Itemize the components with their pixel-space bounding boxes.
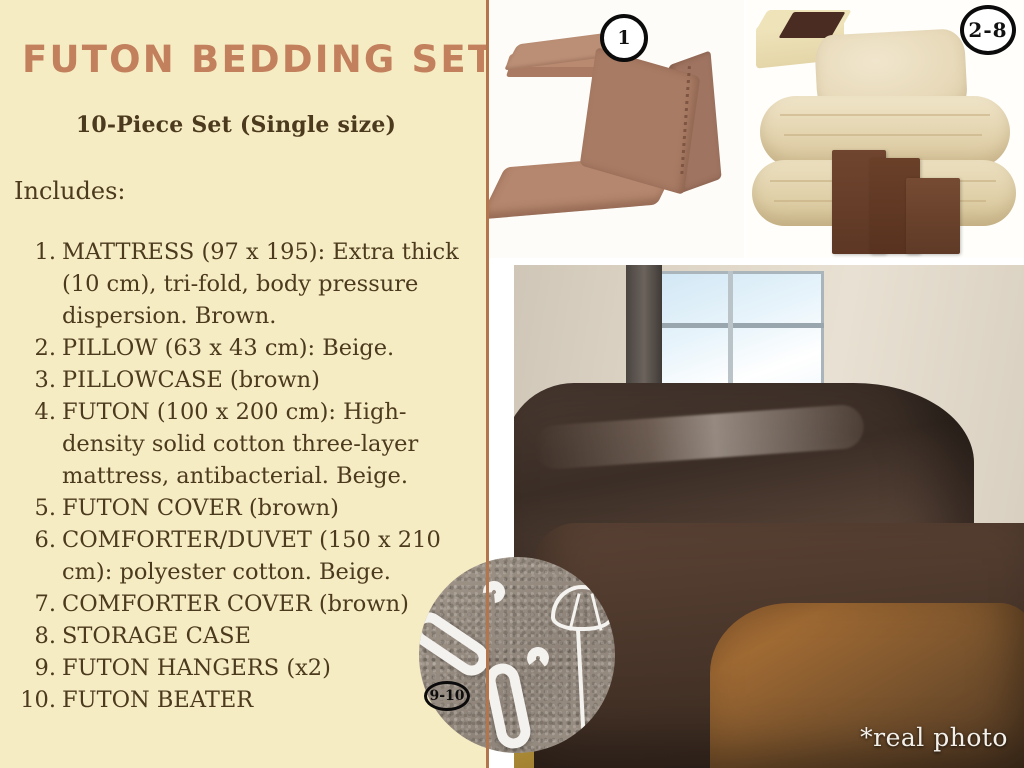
list-item-number: 8. — [14, 620, 56, 652]
futon-hanger-hook-2 — [526, 646, 550, 670]
futon-hanger-icon-2 — [482, 660, 533, 751]
futon-hanger-icon-1 — [419, 606, 495, 682]
list-item-number: 3. — [14, 364, 56, 396]
real-photo-caption: *real photo — [860, 723, 1008, 752]
photo-window — [642, 271, 824, 399]
futon-beater-icon — [551, 585, 615, 745]
includes-label: Includes: — [14, 177, 125, 205]
list-item-label: MATTRESS (97 x 195): Extra thick (10 cm)… — [62, 239, 459, 329]
list-item-number: 9. — [14, 652, 56, 684]
list-item-label: FUTON HANGERS (x2) — [62, 655, 331, 681]
list-item: 10. FUTON BEATER — [14, 684, 474, 716]
list-item-label: STORAGE CASE — [62, 623, 251, 649]
vertical-divider — [486, 0, 489, 768]
list-item-number: 7. — [14, 588, 56, 620]
list-item-number: 4. — [14, 396, 56, 428]
list-item-label: FUTON BEATER — [62, 687, 253, 713]
badge-product-1: 1 — [600, 14, 648, 62]
page-subtitle: 10-Piece Set (Single size) — [0, 112, 472, 138]
list-item-number: 2. — [14, 332, 56, 364]
list-item-label: COMFORTER/DUVET (150 x 210 cm): polyeste… — [62, 527, 441, 585]
brown-cover-fold-3 — [906, 178, 960, 254]
list-item-number: 1. — [14, 236, 56, 268]
list-item: 8. STORAGE CASE — [14, 620, 474, 652]
list-item: 6. COMFORTER/DUVET (150 x 210 cm): polye… — [14, 524, 474, 588]
list-item: 9. FUTON HANGERS (x2) — [14, 652, 474, 684]
futon-hanger-hook-1 — [479, 577, 510, 608]
included-items-list: 1. MATTRESS (97 x 195): Extra thick (10 … — [14, 236, 474, 716]
badge-product-2-8: 2-8 — [960, 5, 1016, 55]
list-item-number: 10. — [14, 684, 56, 716]
list-item: 3. PILLOWCASE (brown) — [14, 364, 474, 396]
accessories-circle-inset — [419, 557, 615, 753]
list-item: 4. FUTON (100 x 200 cm): High-density so… — [14, 396, 474, 492]
list-item-number: 6. — [14, 524, 56, 556]
list-item: 5. FUTON COVER (brown) — [14, 492, 474, 524]
page-title: FUTON BEDDING SET — [22, 38, 472, 81]
poster-root: FUTON BEDDING SET 10-Piece Set (Single s… — [0, 0, 1024, 768]
list-item-label: COMFORTER COVER (brown) — [62, 591, 409, 617]
list-item-label: FUTON (100 x 200 cm): High-density solid… — [62, 399, 418, 489]
list-item-number: 5. — [14, 492, 56, 524]
list-item: 7. COMFORTER COVER (brown) — [14, 588, 474, 620]
list-item-label: FUTON COVER (brown) — [62, 495, 339, 521]
list-item-label: PILLOW (63 x 43 cm): Beige. — [62, 335, 394, 361]
list-item: 1. MATTRESS (97 x 195): Extra thick (10 … — [14, 236, 474, 332]
list-item-label: PILLOWCASE (brown) — [62, 367, 320, 393]
left-text-panel: FUTON BEDDING SET 10-Piece Set (Single s… — [0, 0, 488, 768]
list-item: 2. PILLOW (63 x 43 cm): Beige. — [14, 332, 474, 364]
badge-accessories-9-10: 9-10 — [424, 681, 470, 711]
